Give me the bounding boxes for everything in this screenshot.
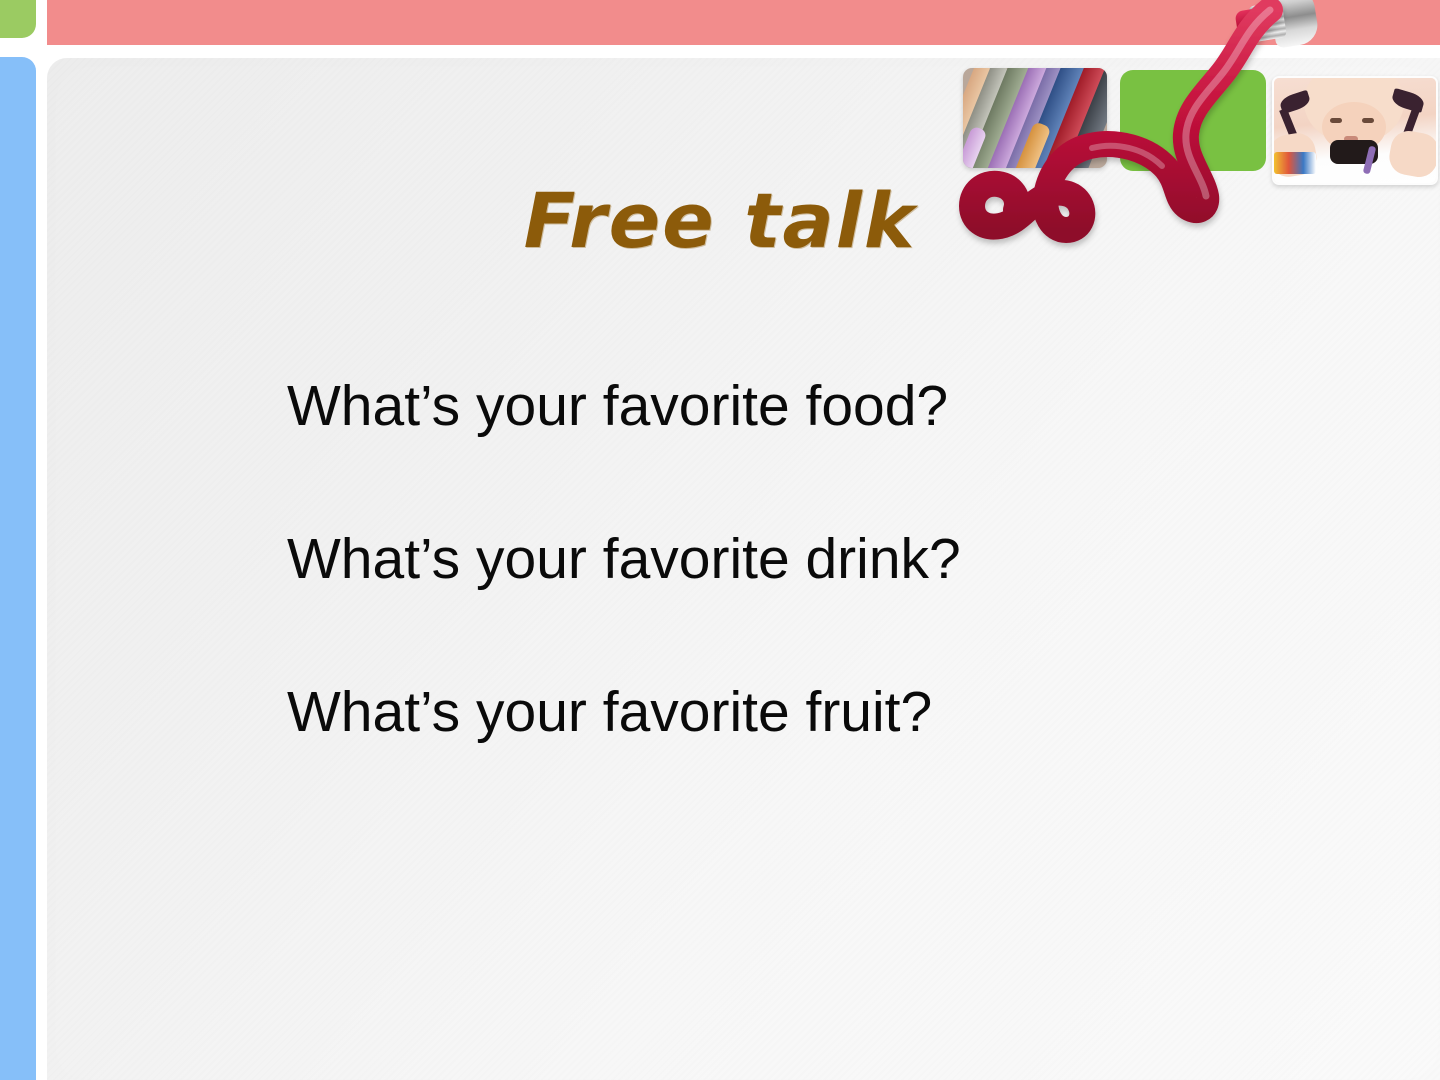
- question-list: What’s your favorite food? What’s your f…: [287, 330, 1287, 789]
- top-salmon-bar: [47, 0, 1440, 45]
- question-line: What’s your favorite food?: [287, 330, 1287, 483]
- question-line: What’s your favorite drink?: [287, 483, 1287, 636]
- corner-green-block: [0, 0, 36, 38]
- question-line: What’s your favorite fruit?: [287, 636, 1287, 789]
- page-title: Free talk: [0, 176, 1440, 265]
- presentation-slide: Free talk What’s your favorite food? Wha…: [0, 0, 1440, 1080]
